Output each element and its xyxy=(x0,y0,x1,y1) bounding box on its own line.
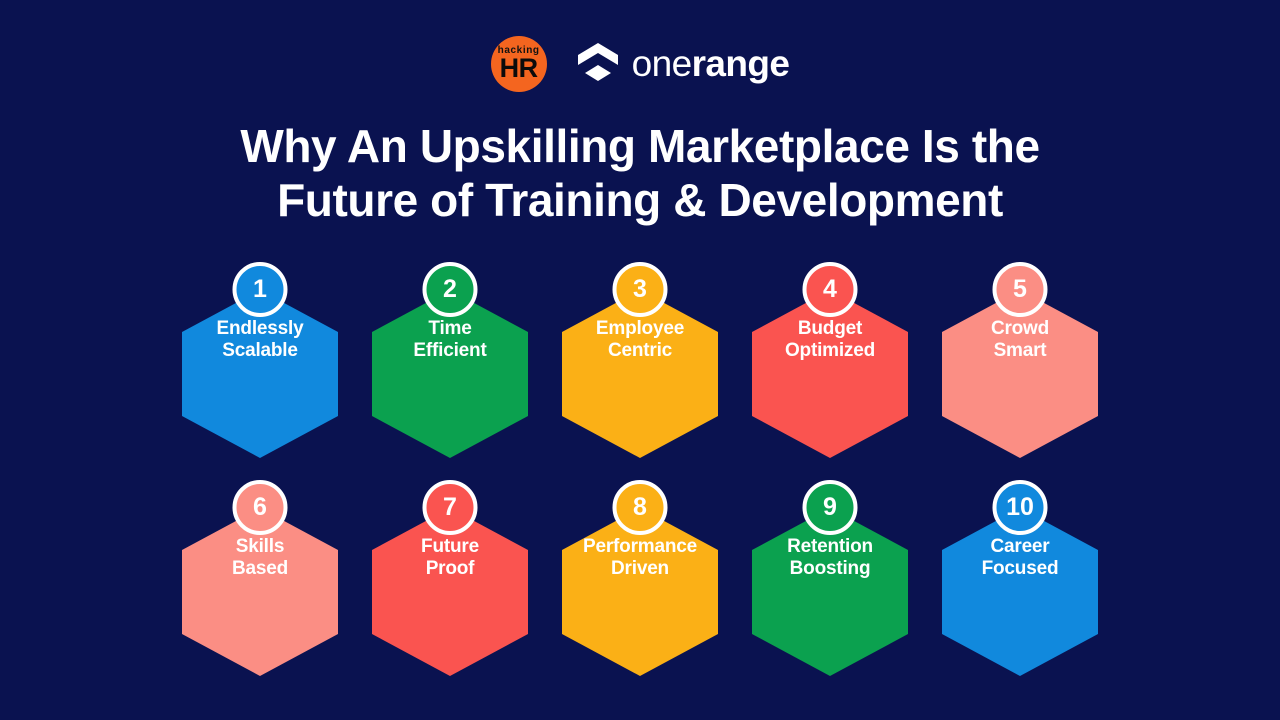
page-title: Why An Upskilling Marketplace Is the Fut… xyxy=(0,120,1280,228)
hexagon-number-badge: 3 xyxy=(613,262,668,317)
hexagon-item-7[interactable]: Future Proof 7 xyxy=(372,480,528,676)
onerange-word-range: range xyxy=(692,43,790,84)
onerange-logo: onerange xyxy=(577,42,790,86)
hexagon-row-2: Skills Based 6 Future Proof 7 Performanc… xyxy=(0,480,1280,676)
hexagon-item-1[interactable]: Endlessly Scalable 1 xyxy=(182,262,338,458)
hacking-hr-logo: hacking HR xyxy=(491,36,547,92)
hexagon-item-6[interactable]: Skills Based 6 xyxy=(182,480,338,676)
hexagon-grid: Endlessly Scalable 1 Time Efficient 2 Em… xyxy=(0,262,1280,676)
logo-bar: hacking HR onerange xyxy=(0,32,1280,96)
hexagon-item-10[interactable]: Career Focused 10 xyxy=(942,480,1098,676)
onerange-chevron-diamond-icon xyxy=(577,42,619,86)
hexagon-number-badge: 6 xyxy=(233,480,288,535)
page-title-line-1: Why An Upskilling Marketplace Is the xyxy=(0,120,1280,174)
hexagon-number-badge: 1 xyxy=(233,262,288,317)
infographic-canvas: hacking HR onerange Why An Upskilling Ma… xyxy=(0,0,1280,720)
hexagon-item-8[interactable]: Performance Driven 8 xyxy=(562,480,718,676)
onerange-word-one: one xyxy=(632,43,692,84)
hexagon-item-5[interactable]: Crowd Smart 5 xyxy=(942,262,1098,458)
hexagon-number-badge: 2 xyxy=(423,262,478,317)
hexagon-number-badge: 8 xyxy=(613,480,668,535)
hexagon-number-badge: 4 xyxy=(803,262,858,317)
hexagon-item-4[interactable]: Budget Optimized 4 xyxy=(752,262,908,458)
page-title-line-2: Future of Training & Development xyxy=(0,174,1280,228)
hexagon-number-badge: 5 xyxy=(993,262,1048,317)
hexagon-item-3[interactable]: Employee Centric 3 xyxy=(562,262,718,458)
hexagon-item-2[interactable]: Time Efficient 2 xyxy=(372,262,528,458)
hexagon-number-badge: 9 xyxy=(803,480,858,535)
hexagon-number-badge: 10 xyxy=(993,480,1048,535)
hacking-hr-main-text: HR xyxy=(500,55,538,82)
hexagon-number-badge: 7 xyxy=(423,480,478,535)
onerange-wordmark: onerange xyxy=(632,43,790,85)
hexagon-row-1: Endlessly Scalable 1 Time Efficient 2 Em… xyxy=(0,262,1280,458)
hexagon-item-9[interactable]: Retention Boosting 9 xyxy=(752,480,908,676)
